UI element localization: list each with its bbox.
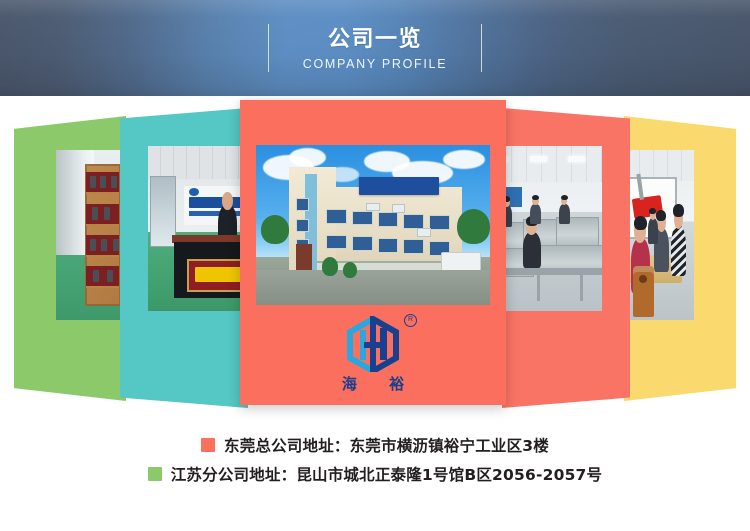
swatch-coral-icon [201,438,215,452]
page-title-cn: 公司一览 [328,25,422,53]
photo-fan-gallery: R 海 裕 [0,96,750,431]
company-profile-banner: 公司一览 COMPANY PROFILE [0,0,750,531]
gallery-panel-reception[interactable] [120,108,248,408]
header-divider-right [481,24,482,72]
swatch-green-icon [148,467,162,481]
registered-trademark-icon: R [404,314,417,327]
address-row-headquarters: 东莞总公司地址：东莞市横沥镇裕宁工业区3楼 [201,434,549,456]
header-title-block: 公司一览 COMPANY PROFILE [269,25,482,72]
hexagon-h-logo-icon: R [345,316,401,372]
gallery-panel-warehouse[interactable] [14,116,126,401]
company-logo-text: 海 裕 [328,373,418,394]
gallery-panel-office[interactable] [502,108,630,408]
gallery-panel-factory[interactable]: R 海 裕 [240,100,506,405]
company-logo: R 海 裕 [240,316,506,402]
address-text-headquarters: 东莞总公司地址：东莞市横沥镇裕宁工业区3楼 [224,434,549,456]
photo-factory-building [256,145,490,305]
address-legend: 东莞总公司地址：东莞市横沥镇裕宁工业区3楼 江苏分公司地址：昆山市城北正泰隆1号… [0,434,750,485]
page-title-en: COMPANY PROFILE [303,57,448,71]
address-text-branch: 江苏分公司地址：昆山市城北正泰隆1号馆B区2056-2057号 [171,463,603,485]
gallery-panel-training[interactable] [624,116,736,401]
address-row-branch: 江苏分公司地址：昆山市城北正泰隆1号馆B区2056-2057号 [148,463,603,485]
page-header: 公司一览 COMPANY PROFILE [0,0,750,96]
